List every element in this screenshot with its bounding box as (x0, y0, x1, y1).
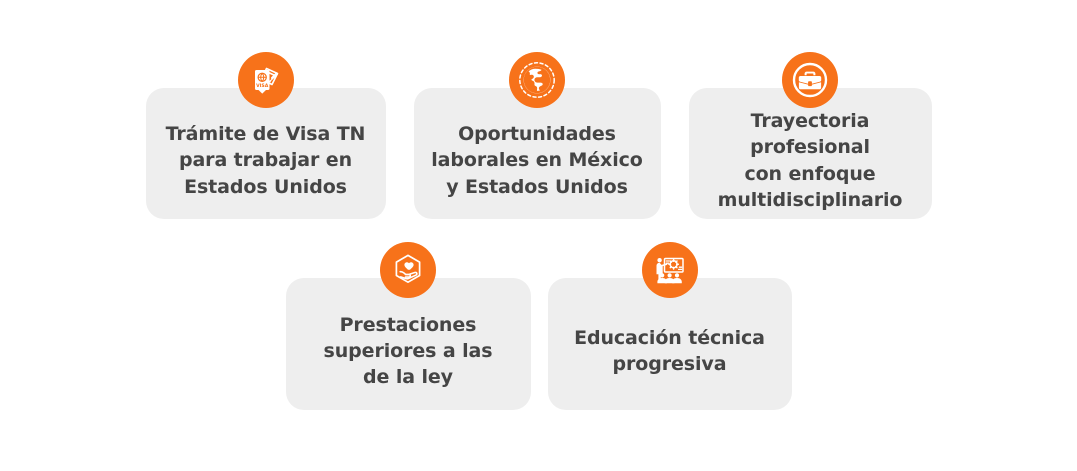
card-row-top: VISA Trámite de Visa TN para trabajar en… (0, 88, 1077, 219)
card-label: Educación técnica progresiva (574, 325, 765, 377)
card-row-bottom: Prestaciones superiores a las de la ley (0, 278, 1077, 410)
card-trayectoria-profesional[interactable]: Trayectoria profesional con enfoque mult… (689, 88, 932, 219)
card-label: Oportunidades laborales en México y Esta… (431, 121, 643, 200)
card-educacion-tecnica[interactable]: Educación técnica progresiva (548, 278, 792, 410)
card-label: Trayectoria profesional con enfoque mult… (705, 108, 916, 213)
card-oportunidades-laborales[interactable]: Oportunidades laborales en México y Esta… (414, 88, 661, 219)
benefits-infographic: VISA Trámite de Visa TN para trabajar en… (0, 0, 1077, 471)
svg-text:VISA: VISA (256, 83, 269, 89)
hand-heart-icon (380, 242, 436, 298)
briefcase-icon (782, 52, 838, 108)
globe-world-icon (509, 52, 565, 108)
card-label: Trámite de Visa TN para trabajar en Esta… (166, 121, 366, 200)
card-prestaciones[interactable]: Prestaciones superiores a las de la ley (286, 278, 531, 410)
card-label: Prestaciones superiores a las de la ley (324, 312, 493, 391)
card-visa-tn[interactable]: VISA Trámite de Visa TN para trabajar en… (146, 88, 386, 219)
visa-passport-flight-icon: VISA (238, 52, 294, 108)
training-presentation-icon (642, 242, 698, 298)
